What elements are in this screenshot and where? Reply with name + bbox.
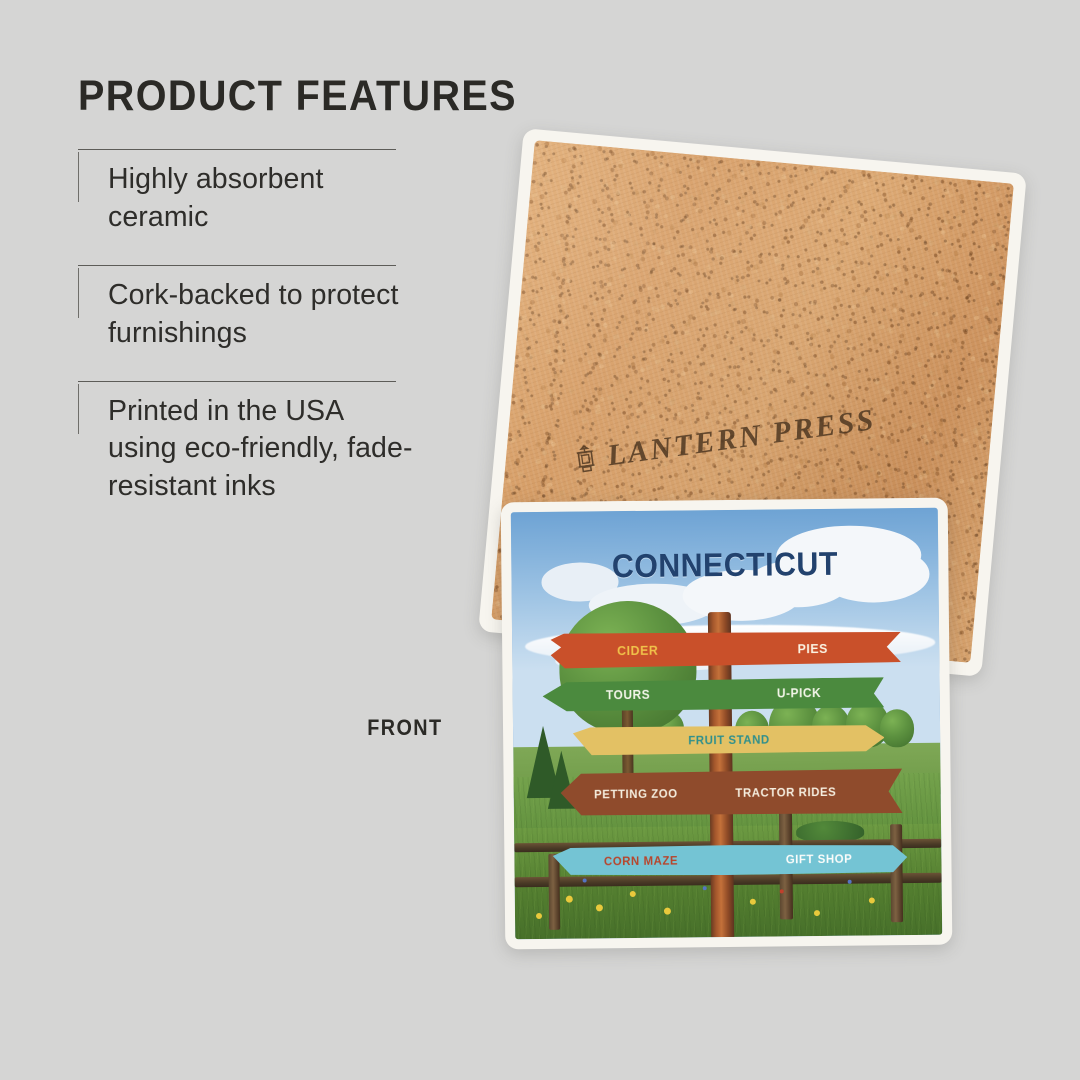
sign-label-right: U-PICK — [718, 686, 880, 702]
flower — [596, 904, 603, 911]
sign-label-left: PETTING ZOO — [564, 787, 707, 801]
fence-post — [890, 824, 903, 922]
feature-tick — [78, 152, 79, 202]
fence-post — [549, 853, 561, 930]
feature-item-3: Printed in the USA using eco-friendly, f… — [78, 381, 418, 507]
sign-label-left: FRUIT STAND — [581, 731, 877, 748]
sign-label-right: PIES — [730, 640, 896, 657]
flower — [779, 889, 783, 893]
artwork-surface: CONNECTICUT — [511, 508, 942, 939]
sign-label-left: CIDER — [555, 642, 721, 659]
artwork-title: CONNECTICUT — [528, 544, 921, 586]
feature-tick — [78, 384, 79, 434]
flower — [750, 898, 756, 904]
sign-label-right: TRACTOR RIDES — [715, 785, 858, 799]
flower — [703, 886, 707, 890]
product-features-panel: PRODUCT FEATURES Highly absorbent cerami… — [78, 72, 418, 506]
feature-text-2: Cork-backed to protect furnishings — [108, 277, 418, 353]
feature-divider — [78, 381, 396, 382]
feature-text-1: Highly absorbent ceramic — [108, 161, 418, 237]
feature-item-2: Cork-backed to protect furnishings — [78, 265, 418, 353]
page-title: PRODUCT FEATURES — [78, 72, 391, 121]
feature-item-1: Highly absorbent ceramic — [78, 149, 418, 237]
brand-name-text: LANTERN PRESS — [605, 403, 878, 473]
sign-cider-pies[interactable]: CIDER PIES — [550, 630, 900, 669]
feature-text-3: Printed in the USA using eco-friendly, f… — [108, 393, 418, 507]
sign-tours-upick[interactable]: TOURS U-PICK — [542, 677, 884, 712]
sign-label-left: TOURS — [547, 688, 709, 704]
sign-fruit-stand[interactable]: FRUIT STAND — [573, 724, 885, 755]
feature-divider — [78, 149, 396, 150]
lantern-press-brand: LANTERN PRESS — [570, 403, 877, 478]
coaster-front-view: CONNECTICUT — [501, 498, 953, 950]
lantern-icon — [570, 442, 600, 475]
sign-label-left: CORN MAZE — [557, 853, 725, 869]
feature-divider — [78, 265, 396, 266]
tree-canopy — [880, 709, 915, 748]
sign-corn-maze-gift-shop[interactable]: CORN MAZE GIFT SHOP — [553, 843, 908, 877]
front-label: FRONT — [367, 715, 442, 741]
sign-petting-zoo-tractor-rides[interactable]: PETTING ZOO TRACTOR RIDES — [560, 769, 902, 818]
feature-tick — [78, 268, 79, 318]
sign-label-right: GIFT SHOP — [734, 851, 902, 867]
